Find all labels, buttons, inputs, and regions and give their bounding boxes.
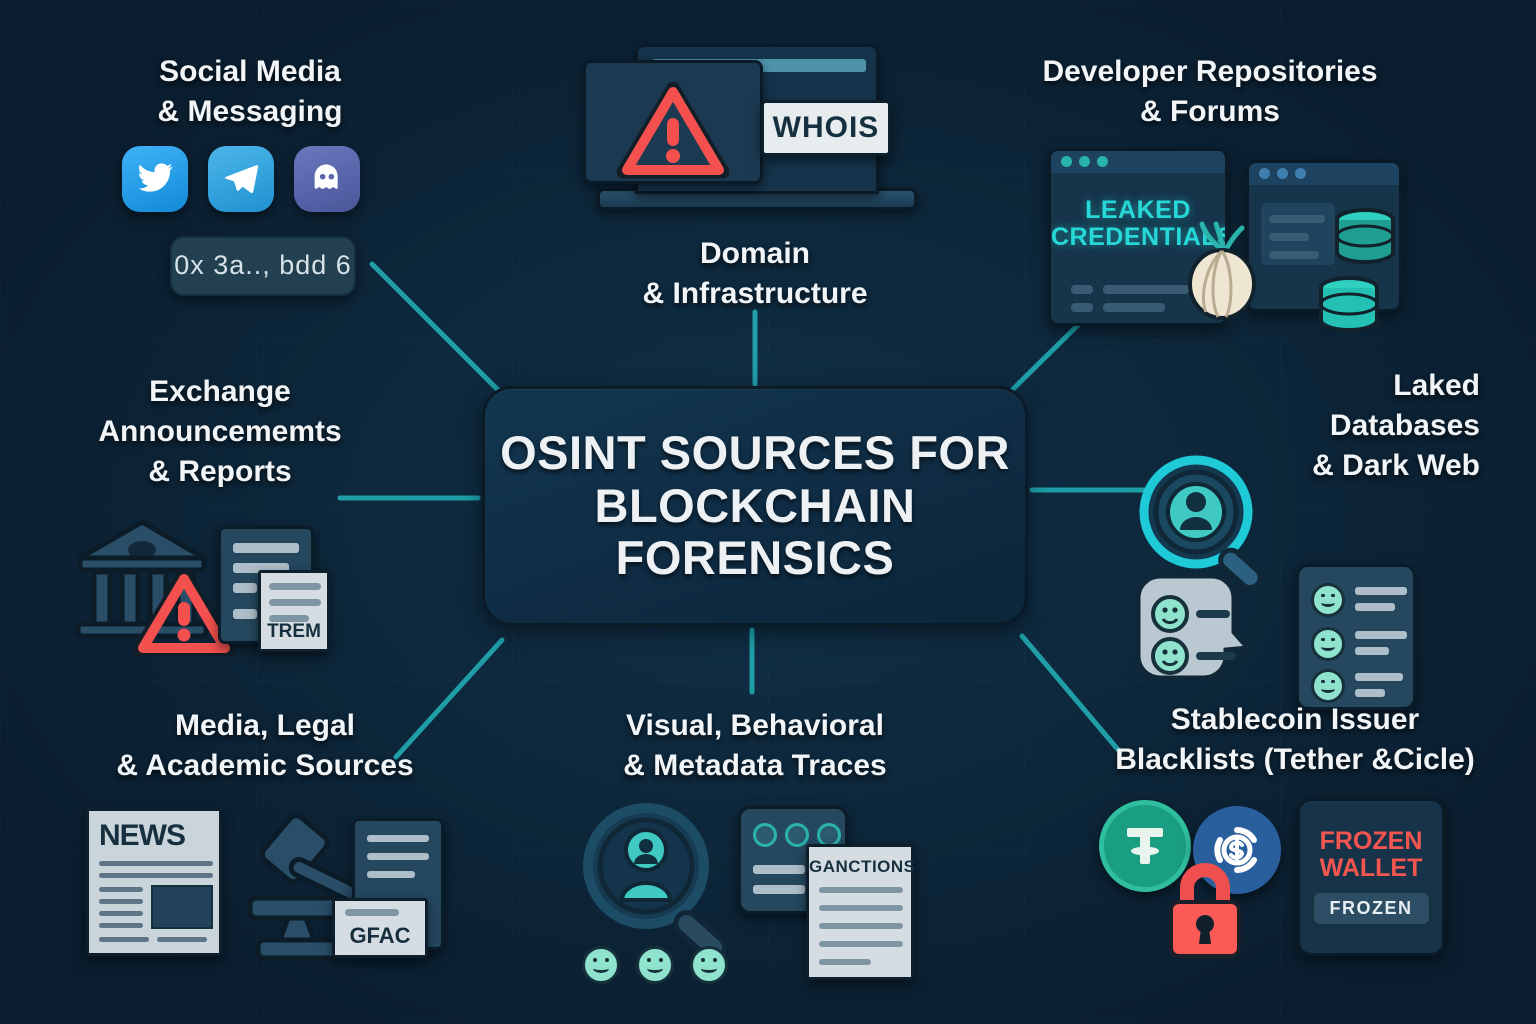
document-label: GFAC xyxy=(335,923,425,949)
node-exchange-announcements-reports: Exchange Announcememts & Reports xyxy=(60,372,380,668)
smiley-icon xyxy=(1311,583,1345,617)
node-developer-repositories-forums: Developer Repositories & Forums LEAKED C… xyxy=(1000,52,1420,328)
profile-list-icon xyxy=(1296,564,1416,710)
telegram-icon xyxy=(208,146,274,212)
node-label-social-media: Social Media & Messaging xyxy=(100,52,400,132)
exchange-art: TREM xyxy=(60,508,380,668)
newspaper-label: NEWS xyxy=(89,819,219,853)
media-legal-art: NEWS xyxy=(70,804,460,984)
document-label: TREM xyxy=(261,621,327,643)
discord-icon xyxy=(294,146,360,212)
warning-triangle-icon xyxy=(617,82,729,180)
stablecoin-art: FROZEN WALLET FROZEN xyxy=(1085,796,1505,986)
node-domain-infrastructure: WHOIS Domain & Infrastructure xyxy=(575,40,935,314)
twitter-icon xyxy=(122,146,188,212)
frozen-status-badge: FROZEN xyxy=(1312,891,1431,926)
frozen-wallet-panel: FROZEN WALLET FROZEN xyxy=(1297,798,1445,956)
padlock-icon xyxy=(1159,858,1251,964)
node-visual-behavioral-metadata-traces: Visual, Behavioral & Metadata Traces xyxy=(560,706,950,990)
leaked-databases-art xyxy=(1140,490,1480,650)
node-leaked-databases-dark-web: Laked Databases & Dark Web xyxy=(1140,366,1480,650)
domain-art: WHOIS xyxy=(575,40,935,220)
node-label-developer-repos: Developer Repositories & Forums xyxy=(1000,52,1420,132)
document-label: GANCTIONS xyxy=(809,857,911,877)
social-media-art: 0x 3a.., bdd 6 xyxy=(100,146,400,326)
developer-repos-art: LEAKED CREDENTIALS xyxy=(1000,148,1420,328)
database-icon xyxy=(1316,276,1382,334)
newspaper-icon: NEWS xyxy=(86,808,222,956)
frozen-wallet-title: FROZEN WALLET xyxy=(1300,828,1442,882)
node-label-domain: Domain & Infrastructure xyxy=(575,234,935,314)
speech-bubble-icon xyxy=(1128,570,1258,688)
whois-badge: WHOIS xyxy=(761,100,891,156)
document-icon: TREM xyxy=(258,570,330,652)
document-icon: GANCTIONS xyxy=(806,844,914,980)
document-icon: GFAC xyxy=(332,898,428,958)
smiley-icon xyxy=(690,946,728,984)
node-social-media-messaging: Social Media & Messaging xyxy=(100,52,400,326)
infographic-canvas: OSINT SOURCES FOR BLOCKCHAIN FORENSICS S… xyxy=(0,0,1536,1024)
smiley-icon xyxy=(1311,627,1345,661)
smiley-icon xyxy=(1311,669,1345,703)
wallet-address-chip: 0x 3a.., bdd 6 xyxy=(170,236,356,296)
center-hub: OSINT SOURCES FOR BLOCKCHAIN FORENSICS xyxy=(482,386,1028,626)
smiley-icon xyxy=(636,946,674,984)
node-label-stablecoin: Stablecoin Issuer Blacklists (Tether &Ci… xyxy=(1085,700,1505,780)
smiley-icon xyxy=(582,946,620,984)
node-media-legal-academic-sources: Media, Legal & Academic Sources NEWS xyxy=(70,706,460,984)
page-title: OSINT SOURCES FOR BLOCKCHAIN FORENSICS xyxy=(485,427,1025,585)
magnifier-person-icon xyxy=(574,798,744,968)
node-label-exchange: Exchange Announcememts & Reports xyxy=(60,372,380,492)
tor-onion-icon xyxy=(1178,220,1264,320)
node-label-visual-metadata: Visual, Behavioral & Metadata Traces xyxy=(560,706,950,786)
visual-metadata-art: GANCTIONS xyxy=(560,800,950,990)
node-label-media-legal: Media, Legal & Academic Sources xyxy=(70,706,460,786)
node-stablecoin-issuer-blacklists: Stablecoin Issuer Blacklists (Tether &Ci… xyxy=(1085,700,1505,986)
database-icon xyxy=(1332,208,1398,266)
